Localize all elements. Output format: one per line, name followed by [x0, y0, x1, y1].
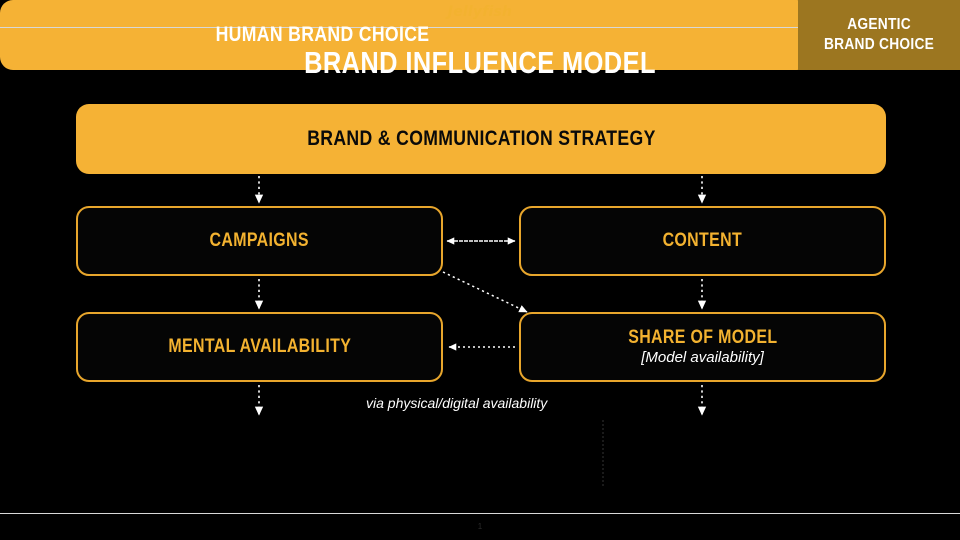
connector-campaigns-to-share [443, 272, 527, 312]
node-content[interactable]: CONTENT [519, 206, 886, 276]
page-number: 1 [0, 522, 960, 531]
footer-divider [0, 513, 960, 514]
connector-label-via-availability: via physical/digital availability [366, 395, 547, 411]
human-agentic-divider [602, 420, 604, 486]
node-label: CAMPAIGNS [210, 231, 309, 251]
node-label: HUMAN BRAND CHOICE [52, 0, 594, 70]
node-brand-communication-strategy[interactable]: BRAND & COMMUNICATION STRATEGY [76, 104, 886, 174]
node-campaigns[interactable]: CAMPAIGNS [76, 206, 443, 276]
slide-canvas: Jellyfish BRAND INFLUENCE MODEL B [0, 0, 960, 540]
node-label: MENTAL AVAILABILITY [168, 337, 351, 357]
node-mental-availability[interactable]: MENTAL AVAILABILITY [76, 312, 443, 382]
node-share-of-model[interactable]: SHARE OF MODEL [Model availability] [519, 312, 886, 382]
node-label: BRAND & COMMUNICATION STRATEGY [307, 128, 655, 150]
node-label: CONTENT [663, 231, 742, 251]
node-agentic-brand-choice[interactable]: AGENTIC BRAND CHOICE [798, 0, 810, 70]
node-label: SHARE OF MODEL [628, 328, 777, 348]
node-sublabel: [Model availability] [641, 349, 764, 366]
